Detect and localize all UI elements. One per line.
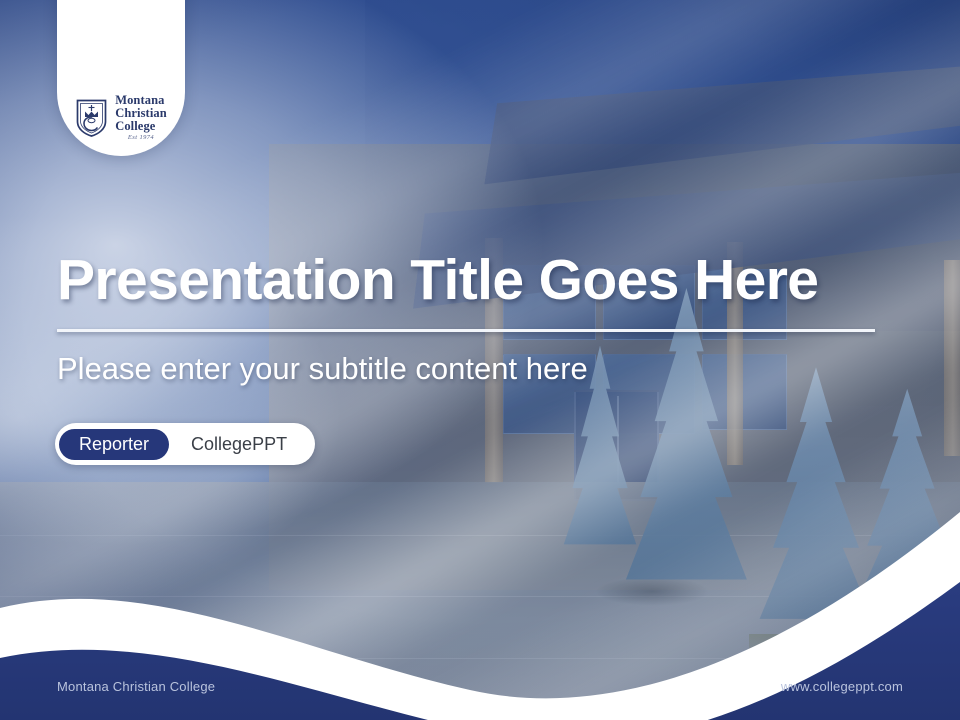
college-logo-card: Montana Christian College Est 1974 <box>57 0 185 156</box>
shield-crest-icon <box>75 98 108 138</box>
footer-institution-name: Montana Christian College <box>57 679 215 694</box>
page-subtitle: Please enter your subtitle content here <box>57 351 588 387</box>
presenter-name[interactable]: CollegePPT <box>169 435 311 453</box>
logo-wordmark: Montana Christian College Est 1974 <box>115 94 167 142</box>
logo-line-1: Montana <box>115 94 167 107</box>
presentation-cover-slide: Montana Christian College Est 1974 Prese… <box>0 0 960 720</box>
page-title: Presentation Title Goes Here <box>57 247 818 313</box>
title-divider-rule <box>57 329 875 332</box>
logo-line-3: College <box>115 120 167 133</box>
logo-line-2: Christian <box>115 107 167 120</box>
footer-website-url[interactable]: www.collegeppt.com <box>781 679 903 694</box>
presenter-pill[interactable]: Reporter CollegePPT <box>55 423 315 465</box>
logo-established-text: Est 1974 <box>115 135 167 142</box>
presenter-role-badge[interactable]: Reporter <box>59 429 169 460</box>
logo-lockup: Montana Christian College Est 1974 <box>75 94 167 142</box>
